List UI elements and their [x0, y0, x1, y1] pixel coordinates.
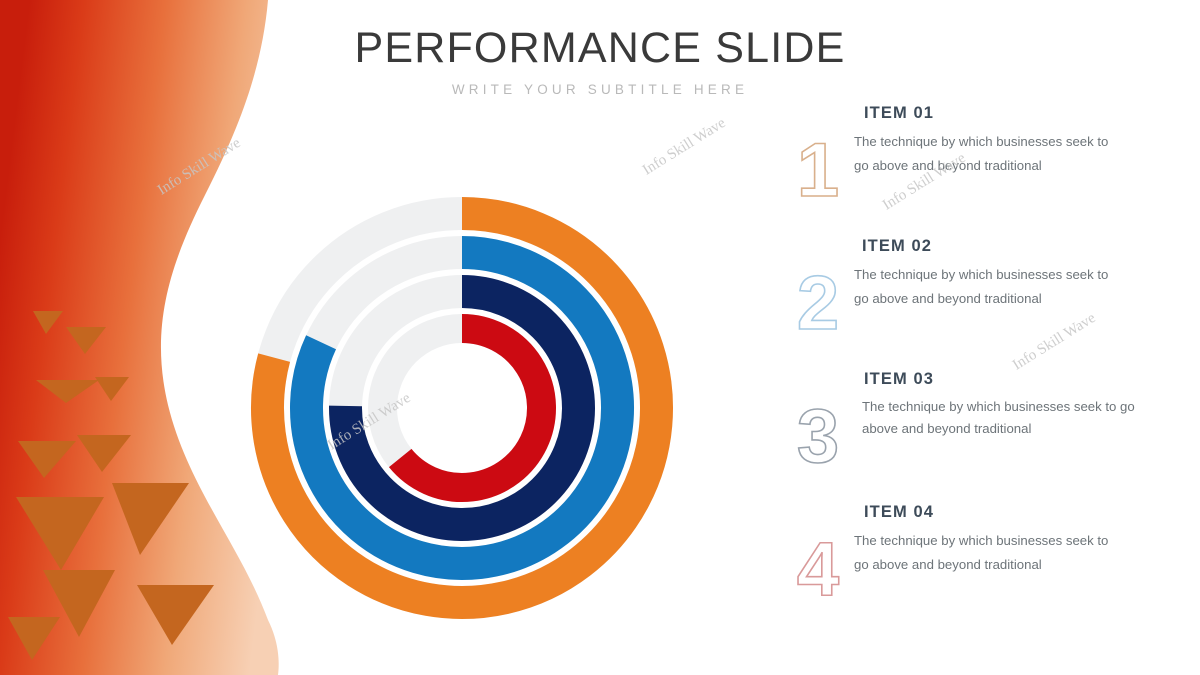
item-body-2: The technique by which businesses seek t… [854, 263, 1122, 312]
list-item[interactable]: 4 ITEM 04 The technique by which busines… [786, 503, 1186, 636]
item-number-4: 4 [786, 529, 850, 611]
item-heading-4: ITEM 04 [864, 503, 1186, 522]
item-heading-1: ITEM 01 [864, 104, 1186, 123]
watermark-text: Info Skill Wave [640, 115, 729, 179]
list-item[interactable]: 2 ITEM 02 The technique by which busines… [786, 237, 1186, 370]
items-list: 1 ITEM 01 The technique by which busines… [786, 104, 1186, 636]
donut-center-hole [400, 346, 524, 470]
page-title: PERFORMANCE SLIDE [330, 26, 870, 71]
item-heading-2: ITEM 02 [862, 237, 1186, 256]
item-body-3: The technique by which businesses seek t… [862, 396, 1152, 440]
list-item[interactable]: 3 ITEM 03 The technique by which busines… [786, 370, 1186, 503]
wave-shape [0, 0, 279, 675]
triangle-cluster [8, 311, 214, 660]
title-block: PERFORMANCE SLIDE WRITE YOUR SUBTITLE HE… [330, 26, 870, 97]
slide-canvas: PERFORMANCE SLIDE WRITE YOUR SUBTITLE HE… [0, 0, 1200, 675]
item-body-4: The technique by which businesses seek t… [854, 529, 1122, 578]
page-subtitle: WRITE YOUR SUBTITLE HERE [330, 82, 870, 97]
item-body-1: The technique by which businesses seek t… [854, 130, 1122, 179]
item-number-1: 1 [786, 130, 850, 212]
performance-donut-chart [246, 192, 678, 624]
item-number-3: 3 [786, 396, 850, 478]
item-number-2: 2 [786, 263, 850, 345]
item-heading-3: ITEM 03 [864, 370, 1186, 389]
list-item[interactable]: 1 ITEM 01 The technique by which busines… [786, 104, 1186, 237]
watermark-text: Info Skill Wave [155, 135, 244, 199]
